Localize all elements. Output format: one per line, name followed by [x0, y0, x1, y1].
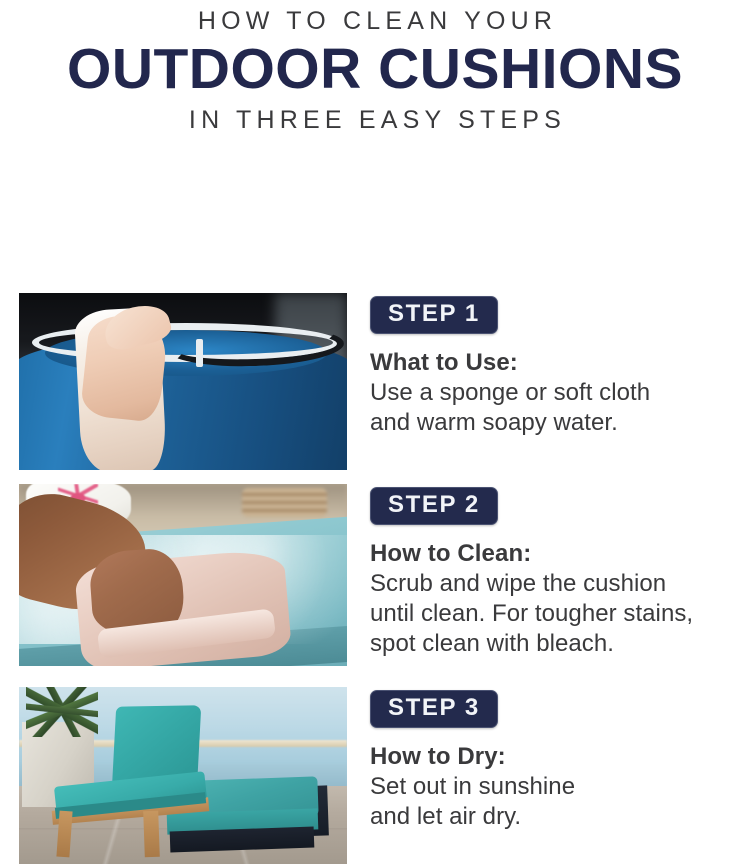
- step-row-2: STEP 2 How to Clean: Scrub and wipe the …: [0, 484, 750, 666]
- step-3-heading: How to Dry:: [370, 742, 750, 772]
- step-3-badge: STEP 3: [370, 690, 498, 728]
- step-3-body-line-2: and let air dry.: [370, 802, 750, 832]
- step-row-1: STEP 1 What to Use: Use a sponge or soft…: [0, 293, 750, 470]
- step-1-text-block: STEP 1 What to Use: Use a sponge or soft…: [370, 293, 750, 438]
- step-1-badge: STEP 1: [370, 296, 498, 334]
- photo3-ottoman-base: [170, 826, 315, 852]
- step-1-heading: What to Use:: [370, 348, 750, 378]
- step-3-body-line-1: Set out in sunshine: [370, 772, 750, 802]
- step-2-heading: How to Clean:: [370, 539, 750, 569]
- step-3-text-block: STEP 3 How to Dry: Set out in sunshine a…: [370, 687, 750, 832]
- step-2-body-line-3: spot clean with bleach.: [370, 629, 750, 659]
- header: How to Clean Your Outdoor Cushions In Th…: [0, 0, 750, 136]
- photo1-bucket-handle: [196, 339, 203, 367]
- step-2-photo-wiping-cushion: [19, 484, 347, 666]
- step-1-body-line-2: and warm soapy water.: [370, 408, 750, 438]
- photo2-stacked-cushions: [242, 488, 327, 517]
- page-title: Outdoor Cushions: [0, 37, 750, 101]
- step-1-photo-bucket-with-cloth: [19, 293, 347, 470]
- photo3-agave-plant: [26, 687, 98, 737]
- step-1-body-line-1: Use a sponge or soft cloth: [370, 378, 750, 408]
- infographic-root: How to Clean Your Outdoor Cushions In Th…: [0, 0, 750, 750]
- step-2-body-line-2: until clean. For tougher stains,: [370, 599, 750, 629]
- header-line-bottom: In Three Easy Steps: [0, 104, 750, 136]
- step-2-badge: STEP 2: [370, 487, 498, 525]
- step-2-body-line-1: Scrub and wipe the cushion: [370, 569, 750, 599]
- header-line-top: How to Clean Your: [0, 6, 750, 36]
- step-3-photo-chaise-lounge: [19, 687, 347, 864]
- photo3-chair-leg-rear: [143, 811, 159, 858]
- step-row-3: STEP 3 How to Dry: Set out in sunshine a…: [0, 687, 750, 864]
- step-2-text-block: STEP 2 How to Clean: Scrub and wipe the …: [370, 484, 750, 659]
